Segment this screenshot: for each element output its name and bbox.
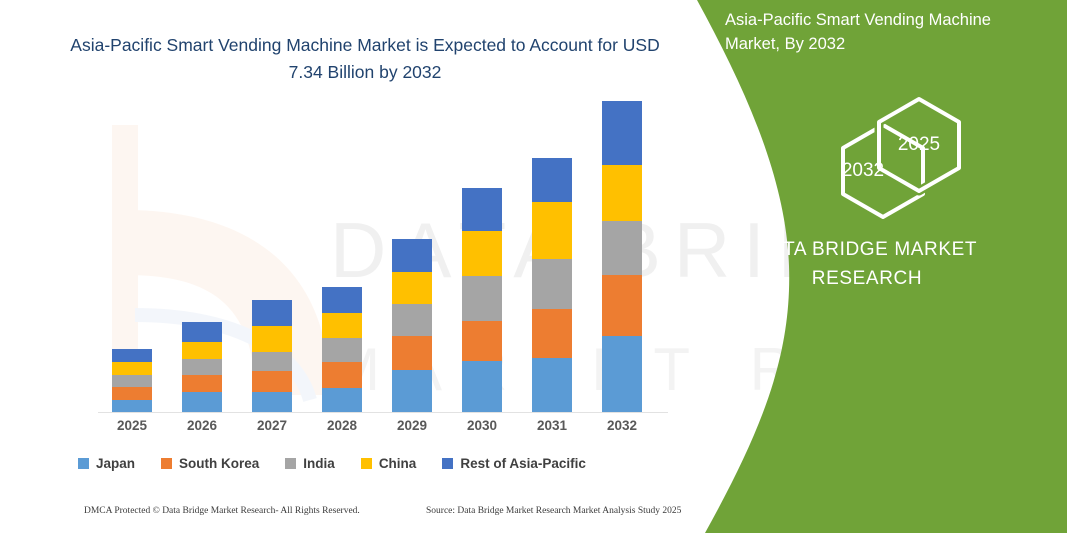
bar-segment-rest-of-asia-pacific-2030 [462, 188, 502, 231]
bar-segment-rest-of-asia-pacific-2031 [532, 158, 572, 201]
bar-segment-japan-2026 [182, 392, 222, 413]
footer: DMCA Protected © Data Bridge Market Rese… [84, 506, 684, 522]
bar-segment-south-korea-2026 [182, 375, 222, 391]
x-label-2028: 2028 [312, 418, 372, 433]
bar-segment-japan-2029 [392, 370, 432, 412]
bar-segment-rest-of-asia-pacific-2025 [112, 349, 152, 362]
legend-swatch-icon [442, 458, 453, 469]
x-axis-tick-labels: 20252026202720282029203020312032 [78, 418, 678, 440]
page-title: Asia-Pacific Smart Vending Machine Marke… [70, 32, 660, 86]
brand-line-1: DATA BRIDGE MARKET [687, 235, 1047, 264]
bar-2032 [602, 101, 642, 412]
legend-label: South Korea [179, 456, 259, 471]
x-label-2030: 2030 [452, 418, 512, 433]
bar-segment-china-2027 [252, 326, 292, 352]
brand-line-2: RESEARCH [687, 264, 1047, 293]
bar-segment-china-2032 [602, 165, 642, 221]
bar-segment-south-korea-2028 [322, 362, 362, 388]
bar-segment-china-2029 [392, 272, 432, 304]
bar-2025 [112, 349, 152, 412]
bar-2030 [462, 188, 502, 412]
bar-segment-japan-2028 [322, 388, 362, 412]
hexagon-label-2032: 2032 [820, 160, 906, 182]
legend-item-china[interactable]: China [361, 456, 417, 471]
chart-plot-area [78, 100, 678, 413]
x-axis-line [98, 412, 668, 413]
legend-swatch-icon [285, 458, 296, 469]
hexagon-label-2025: 2025 [876, 134, 962, 156]
legend-swatch-icon [161, 458, 172, 469]
x-label-2029: 2029 [382, 418, 442, 433]
footer-source: Source: Data Bridge Market Research Mark… [426, 506, 681, 516]
bar-2028 [322, 287, 362, 412]
bar-segment-south-korea-2027 [252, 371, 292, 392]
legend-swatch-icon [361, 458, 372, 469]
branding-panel: Asia-Pacific Smart Vending Machine Marke… [667, 0, 1067, 533]
legend-label: Rest of Asia-Pacific [460, 456, 586, 471]
bar-segment-china-2030 [462, 231, 502, 276]
bar-segment-south-korea-2030 [462, 321, 502, 361]
bar-segment-india-2029 [392, 304, 432, 336]
bar-segment-china-2026 [182, 342, 222, 359]
legend-item-japan[interactable]: Japan [78, 456, 135, 471]
legend-label: India [303, 456, 335, 471]
bar-segment-japan-2027 [252, 392, 292, 413]
infographic-canvas: DATA BRIDGE MARKET RESEARCH Asia-Pacific… [0, 0, 1067, 533]
bar-segment-south-korea-2025 [112, 387, 152, 400]
bar-2029 [392, 239, 432, 412]
x-label-2031: 2031 [522, 418, 582, 433]
bar-segment-south-korea-2029 [392, 336, 432, 369]
bar-segment-india-2027 [252, 352, 292, 371]
bar-segment-china-2025 [112, 362, 152, 375]
bar-segment-india-2028 [322, 338, 362, 363]
legend-item-rest-of-asia-pacific[interactable]: Rest of Asia-Pacific [442, 456, 586, 471]
bar-segment-china-2031 [532, 202, 572, 259]
x-label-2027: 2027 [242, 418, 302, 433]
bar-segment-china-2028 [322, 313, 362, 338]
x-label-2025: 2025 [102, 418, 162, 433]
bar-segment-india-2031 [532, 259, 572, 310]
bar-segment-india-2030 [462, 276, 502, 321]
bar-segment-south-korea-2032 [602, 275, 642, 337]
legend-item-india[interactable]: India [285, 456, 335, 471]
bar-segment-rest-of-asia-pacific-2032 [602, 101, 642, 165]
legend-label: China [379, 456, 417, 471]
x-label-2032: 2032 [592, 418, 652, 433]
stacked-bar-chart: 20252026202720282029203020312032 [78, 100, 678, 420]
bar-segment-rest-of-asia-pacific-2026 [182, 322, 222, 341]
chart-legend: JapanSouth KoreaIndiaChinaRest of Asia-P… [78, 452, 678, 474]
bar-segment-south-korea-2031 [532, 309, 572, 358]
bar-segment-rest-of-asia-pacific-2028 [322, 287, 362, 313]
bar-2031 [532, 158, 572, 412]
bar-2027 [252, 300, 292, 412]
bar-segment-japan-2032 [602, 336, 642, 412]
bar-segment-japan-2031 [532, 358, 572, 412]
bar-segment-rest-of-asia-pacific-2027 [252, 300, 292, 326]
bar-segment-india-2026 [182, 359, 222, 375]
bar-2026 [182, 322, 222, 412]
x-label-2026: 2026 [172, 418, 232, 433]
bar-segment-rest-of-asia-pacific-2029 [392, 239, 432, 271]
bar-segment-india-2032 [602, 221, 642, 275]
bar-segment-india-2025 [112, 375, 152, 387]
legend-label: Japan [96, 456, 135, 471]
legend-item-south-korea[interactable]: South Korea [161, 456, 259, 471]
brand-name: DATA BRIDGE MARKET RESEARCH [687, 235, 1047, 293]
footer-copyright: DMCA Protected © Data Bridge Market Rese… [84, 506, 360, 516]
bar-segment-japan-2030 [462, 361, 502, 412]
legend-swatch-icon [78, 458, 89, 469]
bar-segment-japan-2025 [112, 400, 152, 412]
